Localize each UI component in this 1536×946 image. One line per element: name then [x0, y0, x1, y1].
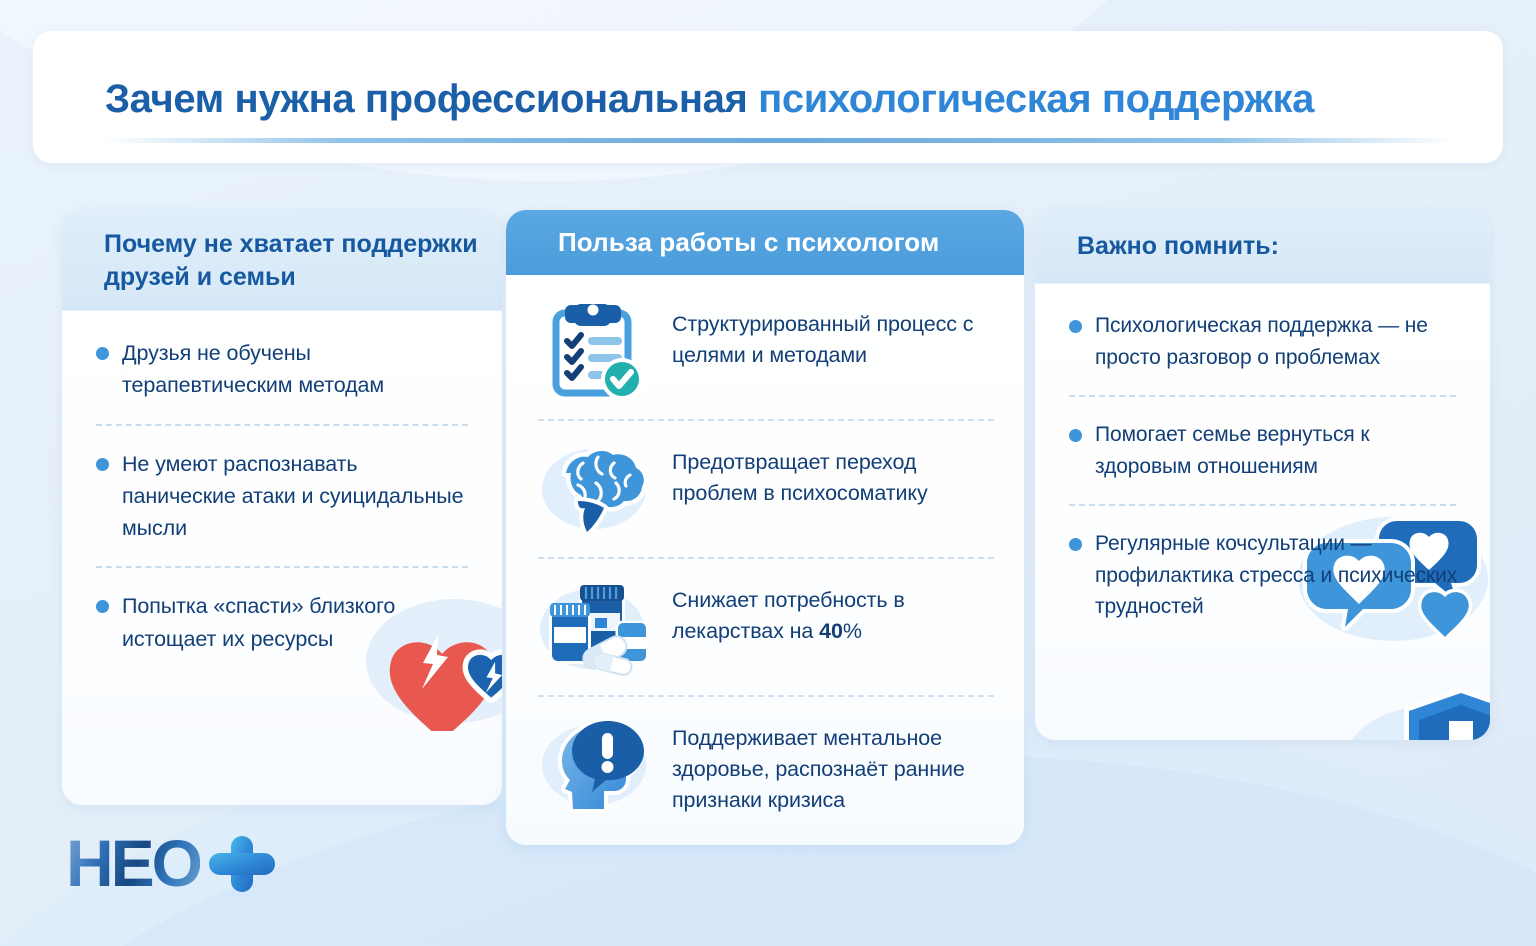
divider [96, 566, 468, 568]
benefit-row: Структурированный процесс с целями и мет… [506, 299, 1024, 403]
benefit-unit: % [843, 619, 862, 643]
list-item-text: Попытка «спасти» близкого истощает их ре… [122, 590, 472, 655]
couple-people-icon [337, 781, 502, 805]
page-title-part2: психологическая поддержка [758, 77, 1314, 121]
list-item-text: Психологическая поддержка — не просто ра… [1095, 310, 1460, 373]
left-bullet-list: Друзья не обучены терапевтическим метода… [62, 311, 502, 655]
page-title-part1: Зачем нужна профессиональная [105, 77, 758, 121]
benefit-text: Поддерживает ментальное здоровье, распоз… [672, 713, 998, 817]
divider [96, 424, 468, 426]
card-why-friends-family: Почему не хватает поддержки друзей и сем… [62, 210, 502, 805]
benefit-row: Поддерживает ментальное здоровье, распоз… [506, 713, 1024, 817]
list-item: Регулярные кочсультации — профилактика с… [1069, 528, 1460, 623]
brain-icon [538, 437, 654, 541]
benefit-row: Снижает потребность в лекарствах на 40% [506, 575, 1024, 679]
bullet-dot-icon [1069, 538, 1082, 551]
bullet-dot-icon [96, 600, 109, 613]
middle-column-header: Польза работы с психологом [506, 210, 1024, 275]
divider [538, 419, 994, 421]
benefit-value: 40 [819, 619, 843, 643]
benefit-text: Предотвращает переход проблем в психосом… [672, 437, 998, 509]
divider [1069, 504, 1456, 506]
benefit-text-prefix: Снижает потребность в лекарствах на [672, 588, 905, 643]
title-underline [105, 138, 1455, 143]
list-item-text: Друзья не обучены терапевтическим метода… [122, 337, 472, 402]
right-bullet-list: Психологическая поддержка — не просто ра… [1035, 284, 1490, 623]
bullet-dot-icon [96, 347, 109, 360]
list-item: Помогает семье вернуться к здоровым отно… [1069, 419, 1460, 482]
divider [538, 557, 994, 559]
plus-icon [204, 828, 282, 898]
shield-cross-hearts-icon [1335, 679, 1490, 740]
list-item: Не умеют распознавать панические атаки и… [96, 448, 472, 545]
right-column-header: Важно помнить: [1035, 210, 1490, 284]
list-item-text: Не умеют распознавать панические атаки и… [122, 448, 472, 545]
list-item-text: Помогает семье вернуться к здоровым отно… [1095, 419, 1460, 482]
bullet-dot-icon [1069, 320, 1082, 333]
clipboard-checklist-icon [538, 299, 654, 403]
list-item: Психологическая поддержка — не просто ра… [1069, 310, 1460, 373]
bullet-dot-icon [1069, 429, 1082, 442]
brand-logo: НЕО [66, 828, 282, 898]
bullet-dot-icon [96, 458, 109, 471]
head-alert-icon [538, 713, 654, 817]
list-item: Попытка «спасти» близкого истощает их ре… [96, 590, 472, 655]
left-column-body: Друзья не обучены терапевтическим метода… [62, 311, 502, 655]
title-card: Зачем нужна профессиональная психологиче… [33, 31, 1503, 163]
benefit-text: Структурированный процесс с целями и мет… [672, 299, 998, 371]
benefit-row: Предотвращает переход проблем в психосом… [506, 437, 1024, 541]
list-item-text: Регулярные кочсультации — профилактика с… [1095, 528, 1460, 623]
list-item: Друзья не обучены терапевтическим метода… [96, 337, 472, 402]
divider [1069, 395, 1456, 397]
pills-bottles-icon [538, 575, 654, 679]
card-important-to-remember: Важно помнить: [1035, 210, 1490, 740]
benefit-text: Снижает потребность в лекарствах на 40% [672, 575, 998, 647]
card-benefits-psychologist: Польза работы с психологом [506, 210, 1024, 845]
left-column-header: Почему не хватает поддержки друзей и сем… [62, 210, 502, 311]
page-title: Зачем нужна профессиональная психологиче… [105, 77, 1314, 122]
middle-column-body: Структурированный процесс с целями и мет… [506, 275, 1024, 817]
brand-logo-text: НЕО [66, 830, 200, 896]
divider [538, 695, 994, 697]
right-column-body: Психологическая поддержка — не просто ра… [1035, 284, 1490, 623]
